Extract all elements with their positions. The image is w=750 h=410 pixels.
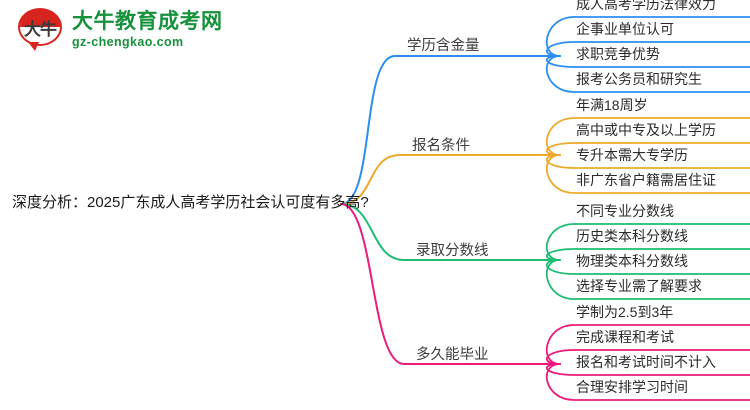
- mindmap-branch-3[interactable]: 录取分数线: [416, 244, 489, 259]
- mindmap-leaf-2-2[interactable]: 高中或中专及以上学历: [576, 123, 716, 137]
- mindmap-leaf-1-2[interactable]: 企事业单位认可: [576, 22, 674, 36]
- mindmap-branch-2[interactable]: 报名条件: [412, 139, 470, 154]
- mindmap-leaf-1-1[interactable]: 成人高考学历法律效力: [576, 0, 716, 11]
- mindmap-leaf-3-2[interactable]: 历史类本科分数线: [576, 229, 688, 243]
- mindmap-leaf-3-4[interactable]: 选择专业需了解要求: [576, 279, 702, 293]
- mindmap-leaf-4-1[interactable]: 学制为2.5到3年: [576, 305, 673, 319]
- mindmap-leaf-4-3[interactable]: 报名和考试时间不计入: [576, 355, 716, 369]
- mindmap-leaf-1-4[interactable]: 报考公务员和研究生: [576, 72, 702, 86]
- mindmap-branch-4[interactable]: 多久能毕业: [416, 348, 489, 363]
- mindmap-leaf-4-2[interactable]: 完成课程和考试: [576, 330, 674, 344]
- mindmap-leaf-3-3[interactable]: 物理类本科分数线: [576, 254, 688, 268]
- mindmap-branch-1[interactable]: 学历含金量: [407, 39, 480, 54]
- mindmap-leaf-1-3[interactable]: 求职竞争优势: [576, 47, 660, 61]
- mindmap-leaf-3-1[interactable]: 不同专业分数线: [576, 204, 674, 218]
- mindmap-root-node: 深度分析：2025广东成人高考学历社会认可度有多高?: [12, 195, 369, 210]
- mindmap-leaf-2-3[interactable]: 专升本需大专学历: [576, 148, 688, 162]
- mindmap-leaf-2-4[interactable]: 非广东省户籍需居住证: [576, 173, 716, 187]
- mindmap-leaf-2-1[interactable]: 年满18周岁: [576, 98, 648, 112]
- mindmap-leaf-4-4[interactable]: 合理安排学习时间: [576, 380, 688, 394]
